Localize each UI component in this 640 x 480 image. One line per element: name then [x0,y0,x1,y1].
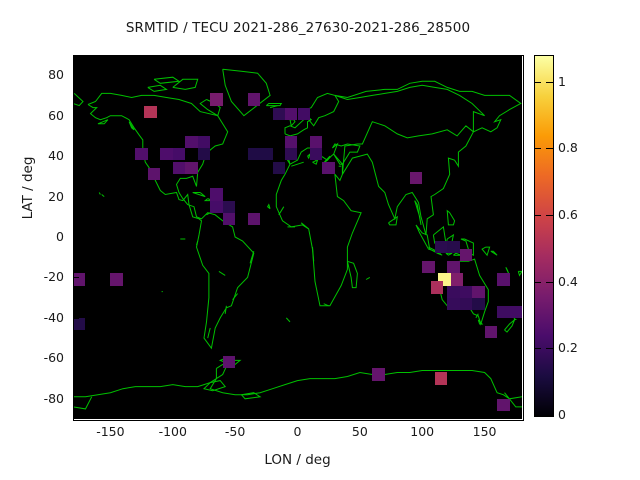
y-tick-mark [73,358,79,359]
y-tick-label: -40 [0,310,64,325]
heatmap-cell [460,298,472,310]
heatmap-cell [285,136,297,148]
heatmap-cell [447,298,459,310]
heatmap-cell-layer [73,55,522,419]
map-plot-area [73,55,522,419]
x-tick-label: 0 [263,424,333,439]
x-tick-mark [422,55,423,61]
heatmap-cell [422,261,434,273]
y-tick-label: -20 [0,269,64,284]
x-axis-label: LON / deg [73,452,522,468]
heatmap-cell [210,93,222,105]
colorbar-tick-mark [546,282,553,283]
colorbar-tick-mark [546,148,553,149]
y-tick-mark [516,358,522,359]
heatmap-cell [148,168,160,180]
x-tick-mark [485,413,486,419]
colorbar-tick-label: 0.2 [558,340,578,355]
y-tick-mark [516,197,522,198]
heatmap-cell [310,136,322,148]
colorbar-tick-mark [534,215,541,216]
colorbar [534,55,554,417]
colorbar-tick-mark [546,215,553,216]
heatmap-cell [223,201,235,213]
x-tick-mark [360,413,361,419]
y-tick-mark [73,277,79,278]
heatmap-cell [185,162,197,174]
x-tick-mark [485,55,486,61]
y-tick-mark [73,156,79,157]
x-tick-mark [360,55,361,61]
heatmap-cell [285,108,297,120]
heatmap-cell [447,286,459,298]
y-tick-label: 20 [0,189,64,204]
y-tick-mark [73,197,79,198]
heatmap-cell [173,162,185,174]
heatmap-cell [497,399,509,411]
x-tick-mark [110,55,111,61]
heatmap-cell [210,201,222,213]
heatmap-cell [472,286,484,298]
heatmap-cell [485,326,497,338]
heatmap-cell [460,249,472,261]
y-tick-label: 60 [0,108,64,123]
heatmap-cell [73,273,85,285]
colorbar-tick-mark [534,82,541,83]
heatmap-cell [198,148,210,160]
heatmap-cell [431,281,443,293]
heatmap-cell [273,162,285,174]
y-tick-label: 80 [0,67,64,82]
heatmap-cell [372,368,384,380]
colorbar-tick-mark [534,415,541,416]
colorbar-tick-mark [546,348,553,349]
y-tick-mark [516,399,522,400]
heatmap-cell [185,136,197,148]
colorbar-gradient [535,56,553,416]
heatmap-cell [73,318,85,330]
heatmap-cell [248,148,260,160]
heatmap-cell [223,213,235,225]
x-tick-mark [422,413,423,419]
heatmap-cell [248,213,260,225]
x-tick-mark [298,413,299,419]
y-tick-mark [516,156,522,157]
x-tick-mark [235,55,236,61]
y-tick-mark [73,116,79,117]
heatmap-cell [310,148,322,160]
y-tick-label: 40 [0,148,64,163]
colorbar-tick-mark [534,348,541,349]
x-tick-label: 100 [387,424,457,439]
y-tick-mark [516,75,522,76]
x-tick-label: -150 [75,424,145,439]
heatmap-cell [273,108,285,120]
y-tick-label: -80 [0,391,64,406]
heatmap-cell [497,306,509,318]
y-tick-mark [73,75,79,76]
heatmap-cell [248,93,260,105]
heatmap-cell [144,106,156,118]
heatmap-cell [435,241,447,253]
x-tick-mark [235,413,236,419]
x-tick-label: 150 [450,424,520,439]
heatmap-cell [497,273,509,285]
y-tick-mark [516,277,522,278]
heatmap-cell [223,356,235,368]
heatmap-cell [472,298,484,310]
colorbar-tick-label: 0.4 [558,274,578,289]
y-tick-mark [73,399,79,400]
heatmap-cell [135,148,147,160]
colorbar-tick-mark [546,82,553,83]
colorbar-tick-label: 0.8 [558,140,578,155]
colorbar-tick-label: 0 [558,407,566,422]
chart-title: SRMTID / TECU 2021-286_27630-2021-286_28… [0,20,596,36]
heatmap-cell [298,108,310,120]
x-tick-label: -50 [200,424,270,439]
heatmap-cell [160,148,172,160]
y-tick-mark [516,237,522,238]
heatmap-cell [322,162,334,174]
y-tick-mark [73,237,79,238]
x-tick-label: 50 [325,424,395,439]
heatmap-cell [285,148,297,160]
y-tick-mark [73,318,79,319]
heatmap-cell [460,286,472,298]
colorbar-tick-label: 1 [558,74,566,89]
colorbar-tick-mark [534,282,541,283]
x-tick-mark [110,413,111,419]
colorbar-tick-label: 0.6 [558,207,578,222]
heatmap-cell [510,306,522,318]
y-tick-label: 0 [0,229,64,244]
x-tick-mark [173,55,174,61]
heatmap-cell [173,148,185,160]
x-tick-mark [298,55,299,61]
heatmap-cell [447,261,459,273]
colorbar-tick-mark [546,415,553,416]
heatmap-cell [198,136,210,148]
heatmap-cell [447,241,459,253]
figure-root: SRMTID / TECU 2021-286_27630-2021-286_28… [0,0,640,480]
x-tick-mark [173,413,174,419]
heatmap-cell [410,172,422,184]
y-tick-mark [516,116,522,117]
heatmap-cell [110,273,122,285]
heatmap-cell [210,188,222,200]
x-tick-label: -100 [138,424,208,439]
heatmap-cell [451,273,463,285]
heatmap-cell [435,372,447,384]
colorbar-tick-mark [534,148,541,149]
y-tick-mark [516,318,522,319]
y-tick-label: -60 [0,350,64,365]
heatmap-cell [260,148,272,160]
